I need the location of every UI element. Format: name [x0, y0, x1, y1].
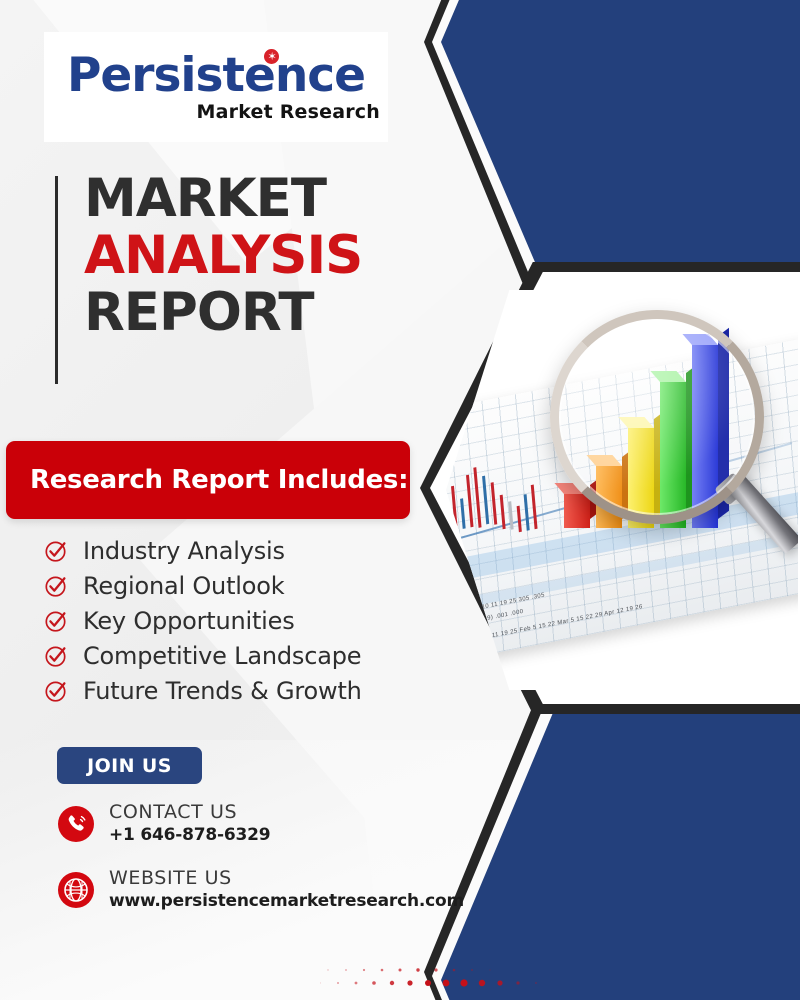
check-circle-icon — [44, 644, 68, 668]
contact-website-row[interactable]: WEBSITE US www.persistencemarketresearch… — [57, 868, 464, 912]
dot-pattern — [320, 962, 560, 992]
market-analysis-report-poster: 4 21 28 2010 11 19 25 Feb 5 15 22 Mar 5 … — [0, 0, 800, 1000]
bar-face — [660, 382, 686, 528]
contact-phone-row[interactable]: CONTACT US +1 646-878-6329 — [57, 802, 270, 846]
check-circle-icon — [44, 609, 68, 633]
list-item: Regional Outlook — [44, 568, 444, 603]
headline-line-report: REPORT — [84, 284, 435, 341]
feature-list: Industry Analysis Regional Outlook Key O… — [44, 533, 444, 708]
bar-face — [628, 428, 654, 528]
bar-chart-3d — [564, 338, 744, 528]
logo-tagline: Market Research — [197, 101, 381, 123]
join-us-button[interactable]: JOIN US — [57, 747, 202, 784]
bar-4 — [660, 382, 686, 528]
bar-3 — [628, 428, 654, 528]
headline-line-analysis: ANALYSIS — [84, 227, 435, 284]
website-url: www.persistencemarketresearch.com — [109, 891, 464, 912]
check-circle-icon — [44, 539, 68, 563]
feature-label: Industry Analysis — [83, 537, 285, 565]
contact-phone-text: CONTACT US +1 646-878-6329 — [109, 802, 270, 846]
page-title: MARKET ANALYSIS REPORT — [84, 170, 435, 342]
chart-photo: 4 21 28 2010 11 19 25 Feb 5 15 22 Mar 5 … — [446, 290, 798, 690]
contact-us-caption: CONTACT US — [109, 802, 270, 824]
logo-star-icon: ✶ — [264, 49, 279, 64]
headline-block: MARKET ANALYSIS REPORT — [55, 170, 435, 342]
list-item: Key Opportunities — [44, 603, 444, 638]
logo-name-text: Persistence — [67, 48, 365, 103]
phone-number: +1 646-878-6329 — [109, 825, 270, 846]
logo-wordmark: Persistence ✶ — [67, 52, 365, 99]
join-us-label: JOIN US — [87, 755, 172, 777]
feature-label: Competitive Landscape — [83, 642, 361, 670]
list-item: Future Trends & Growth — [44, 673, 444, 708]
bar-2 — [596, 466, 622, 528]
banner-title: Research Report Includes: — [30, 465, 408, 495]
bar-1 — [564, 494, 590, 528]
bar-top — [586, 455, 622, 466]
bar-face — [564, 494, 590, 528]
check-circle-icon — [44, 679, 68, 703]
contact-website-text: WEBSITE US www.persistencemarketresearch… — [109, 868, 464, 912]
logo-card: Persistence ✶ Market Research — [44, 32, 388, 142]
list-item: Competitive Landscape — [44, 638, 444, 673]
bar-face — [692, 345, 718, 528]
headline-line-market: MARKET — [84, 170, 435, 227]
research-report-banner: Research Report Includes: — [6, 441, 410, 519]
feature-label: Future Trends & Growth — [83, 677, 362, 705]
website-us-caption: WEBSITE US — [109, 868, 464, 890]
bar-top — [618, 417, 654, 428]
check-circle-icon — [44, 574, 68, 598]
headline-vertical-rule — [55, 176, 58, 384]
bar-top — [650, 371, 686, 382]
phone-icon — [57, 805, 95, 843]
bar-face — [596, 466, 622, 528]
feature-label: Regional Outlook — [83, 572, 284, 600]
list-item: Industry Analysis — [44, 533, 444, 568]
feature-label: Key Opportunities — [83, 607, 295, 635]
globe-icon — [57, 871, 95, 909]
bar-5 — [692, 345, 718, 528]
